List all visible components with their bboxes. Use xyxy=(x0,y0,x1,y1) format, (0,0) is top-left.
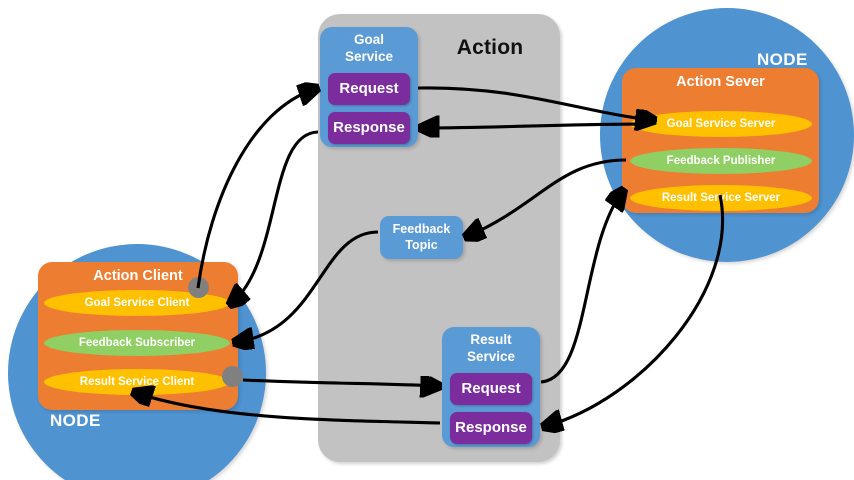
feedback-topic-line2: Topic xyxy=(380,237,463,253)
feedback-publisher-pill[interactable]: Feedback Publisher xyxy=(630,148,812,174)
goal-service-title: Goal Service xyxy=(320,31,418,65)
diagram-canvas: Action NODE Action Sever Goal Service Se… xyxy=(0,0,854,480)
goal-service-request-box[interactable]: Request xyxy=(328,73,410,105)
goal-service-title-line2: Service xyxy=(320,48,418,65)
feedback-topic-box[interactable]: Feedback Topic xyxy=(380,216,463,259)
result-service-title: Result Service xyxy=(442,331,540,365)
action-client-title: Action Client xyxy=(38,268,238,284)
goal-service-response-box[interactable]: Response xyxy=(328,112,410,144)
result-service-server-pill[interactable]: Result Service Server xyxy=(630,185,812,211)
result-service-title-line2: Service xyxy=(442,348,540,365)
feedback-subscriber-pill[interactable]: Feedback Subscriber xyxy=(44,330,230,356)
goal-client-connector-dot xyxy=(188,277,209,298)
result-service-box: Result Service Request Response xyxy=(442,327,540,447)
result-service-title-line1: Result xyxy=(442,331,540,348)
goal-service-server-pill[interactable]: Goal Service Server xyxy=(630,111,812,137)
goal-service-title-line1: Goal xyxy=(320,31,418,48)
feedback-topic-line1: Feedback xyxy=(380,221,463,237)
arrow-goal-response-to-goal-client xyxy=(232,132,318,303)
result-service-response-box[interactable]: Response xyxy=(450,412,532,444)
result-service-request-box[interactable]: Request xyxy=(450,373,532,405)
client-node-label: NODE xyxy=(50,411,101,431)
arrow-goal-client-to-goal-request xyxy=(198,89,315,288)
goal-service-box: Goal Service Request Response xyxy=(320,27,418,147)
action-server-title: Action Sever xyxy=(622,74,819,90)
result-client-connector-dot xyxy=(222,366,243,387)
action-container-label: Action xyxy=(430,36,550,60)
result-service-client-pill[interactable]: Result Service Client xyxy=(44,369,230,395)
server-node-label: NODE xyxy=(757,50,808,70)
